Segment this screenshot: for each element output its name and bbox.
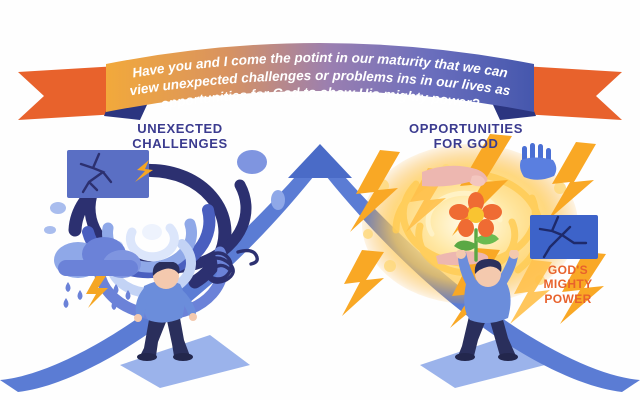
debris-blob-1 bbox=[237, 150, 267, 174]
person-left-hand bbox=[134, 314, 142, 322]
infographic-canvas: UNEXECTED CHALLENGES bbox=[0, 0, 640, 400]
glove-palm bbox=[520, 158, 556, 180]
debris-blob-4 bbox=[271, 190, 285, 210]
debris-blob-2 bbox=[50, 202, 66, 214]
left-section-label: UNEXECTED CHALLENGES bbox=[96, 122, 264, 152]
scripture-question-banner: Have you and I come the potint in our ma… bbox=[0, 20, 640, 120]
person-right-hand bbox=[189, 313, 197, 321]
wall-panel-body bbox=[67, 150, 149, 198]
gods-mighty-power-label: GOD'S MIGHTY POWER bbox=[522, 263, 614, 306]
ribbon-tail-right bbox=[522, 66, 622, 120]
person-right-leg bbox=[166, 316, 190, 356]
person2-left-shoe bbox=[455, 353, 475, 361]
ribbon-tail-left bbox=[18, 66, 118, 120]
cracked-wall-panel-right bbox=[528, 213, 602, 263]
right-section-label: OPPORTUNITIES FOR GOD bbox=[378, 122, 554, 152]
person2-right-shoe bbox=[498, 353, 518, 361]
person-arms-raised bbox=[444, 250, 530, 362]
person-right-shoe bbox=[173, 353, 193, 361]
person-left-shoe bbox=[137, 353, 157, 361]
flower-center bbox=[468, 207, 484, 223]
lightning-bolt-icon bbox=[86, 276, 108, 308]
cracked-wall-panel bbox=[65, 148, 155, 203]
person-walking-away bbox=[126, 262, 206, 362]
